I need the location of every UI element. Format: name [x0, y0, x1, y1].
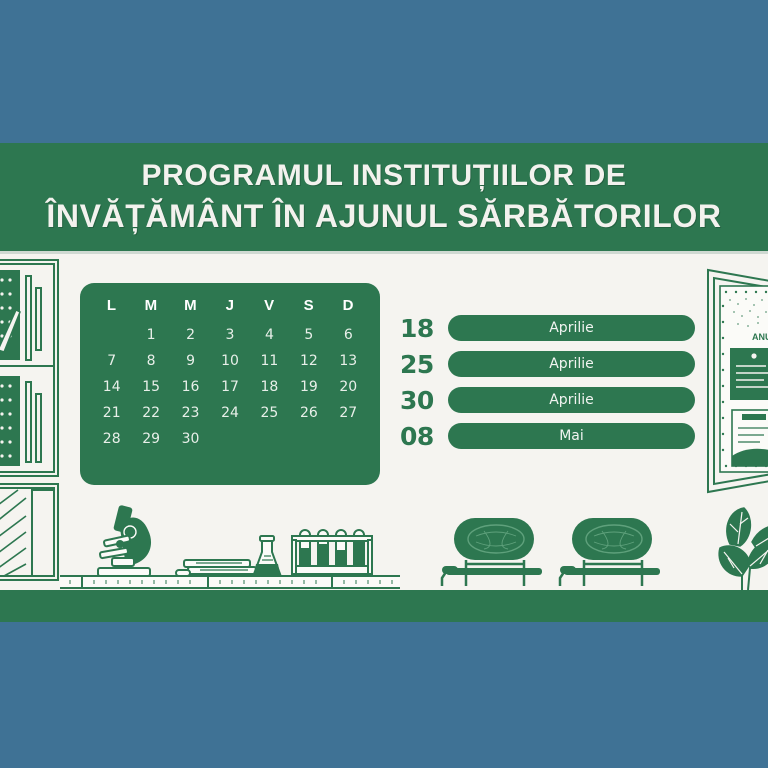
- date-month-pill: Mai: [448, 423, 695, 449]
- calendar-day-cell[interactable]: 3: [210, 324, 249, 346]
- books-icon: [176, 560, 256, 576]
- calendar-day-cell[interactable]: 11: [250, 350, 289, 372]
- chairs-illustration: [440, 512, 670, 590]
- calendar-day-cell: [289, 428, 328, 450]
- calendar-day-cell[interactable]: [92, 324, 131, 346]
- calendar-day-cell: [210, 428, 249, 450]
- plant-icon: [712, 484, 768, 590]
- calendar-dow: S: [289, 297, 328, 314]
- date-day-number: 18: [400, 314, 448, 343]
- counter-top: [60, 576, 400, 588]
- calendar-day-cell[interactable]: 15: [131, 376, 170, 398]
- calendar-day-cell[interactable]: 25: [250, 402, 289, 424]
- calendar-day-cell[interactable]: 18: [250, 376, 289, 398]
- poster-canvas: PROGRAMUL INSTITUȚIILOR DE ÎNVĂȚĂMÂNT ÎN…: [0, 0, 768, 768]
- calendar-dow: J: [210, 297, 249, 314]
- calendar-day-cell[interactable]: 2: [171, 324, 210, 346]
- calendar-week-row: 28 29 30: [92, 428, 368, 450]
- page-title-line-1: PROGRAMUL INSTITUȚIILOR DE: [141, 157, 626, 195]
- content-stage: L M M J V S D 1 2 3 4 5 6 7 8 9 10: [0, 254, 768, 590]
- noticeboard-icon: ANUNȚ: [706, 266, 768, 496]
- calendar-day-cell[interactable]: 8: [131, 350, 170, 372]
- calendar-dow: D: [329, 297, 368, 314]
- holiday-dates-list: 18 Aprilie 25 Aprilie 30 Aprilie 08 Mai: [400, 314, 695, 458]
- calendar-day-cell[interactable]: 10: [210, 350, 249, 372]
- date-day-number: 25: [400, 350, 448, 379]
- calendar-day-cell[interactable]: 22: [131, 402, 170, 424]
- noticeboard-label: ANUNȚ: [752, 332, 768, 342]
- calendar-day-cell[interactable]: 1: [131, 324, 170, 346]
- calendar-day-cell[interactable]: 23: [171, 402, 210, 424]
- calendar-day-cell[interactable]: 12: [289, 350, 328, 372]
- calendar-dow: L: [92, 297, 131, 314]
- test-tube-rack-icon: [292, 530, 372, 574]
- lab-counter-illustration: [60, 504, 400, 590]
- date-month-pill: Aprilie: [448, 315, 695, 341]
- calendar-day-cell[interactable]: 17: [210, 376, 249, 398]
- calendar-day-cell[interactable]: 26: [289, 402, 328, 424]
- calendar-day-cell[interactable]: 24: [210, 402, 249, 424]
- calendar-card[interactable]: L M M J V S D 1 2 3 4 5 6 7 8 9 10: [80, 283, 380, 485]
- date-day-number: 30: [400, 386, 448, 415]
- calendar-day-cell[interactable]: 13: [329, 350, 368, 372]
- date-row[interactable]: 08 Mai: [400, 422, 695, 450]
- calendar-day-cell[interactable]: 29: [131, 428, 170, 450]
- calendar-day-cell[interactable]: 9: [171, 350, 210, 372]
- calendar-dow: M: [171, 297, 210, 314]
- calendar-day-cell[interactable]: 7: [92, 350, 131, 372]
- calendar-dow: V: [250, 297, 289, 314]
- page-title-line-2: ÎNVĂȚĂMÂNT ÎN AJUNUL SĂRBĂTORILOR: [46, 195, 721, 237]
- calendar-day-cell[interactable]: 30: [171, 428, 210, 450]
- calendar-day-headers: L M M J V S D: [92, 297, 368, 314]
- chair-icon: [560, 518, 660, 586]
- calendar-week-row: 1 2 3 4 5 6: [92, 324, 368, 346]
- date-row[interactable]: 25 Aprilie: [400, 350, 695, 378]
- calendar-day-cell: [250, 428, 289, 450]
- calendar-week-row: 7 8 9 10 11 12 13: [92, 350, 368, 372]
- calendar-dow: M: [131, 297, 170, 314]
- calendar-week-row: 14 15 16 17 18 19 20: [92, 376, 368, 398]
- date-row[interactable]: 30 Aprilie: [400, 386, 695, 414]
- date-month-pill: Aprilie: [448, 351, 695, 377]
- calendar-day-cell[interactable]: 16: [171, 376, 210, 398]
- calendar-day-cell[interactable]: 4: [250, 324, 289, 346]
- flask-icon: [254, 536, 280, 574]
- calendar-day-cell[interactable]: 20: [329, 376, 368, 398]
- title-band: PROGRAMUL INSTITUȚIILOR DE ÎNVĂȚĂMÂNT ÎN…: [0, 143, 768, 251]
- calendar-day-cell[interactable]: 28: [92, 428, 131, 450]
- calendar-day-cell: [329, 428, 368, 450]
- calendar-week-row: 21 22 23 24 25 26 27: [92, 402, 368, 424]
- chair-icon: [442, 518, 542, 586]
- floor-band: [0, 590, 768, 622]
- date-month-pill: Aprilie: [448, 387, 695, 413]
- calendar-day-cell[interactable]: 14: [92, 376, 131, 398]
- date-row[interactable]: 18 Aprilie: [400, 314, 695, 342]
- calendar-day-cell[interactable]: 21: [92, 402, 131, 424]
- calendar-day-cell[interactable]: 5: [289, 324, 328, 346]
- date-day-number: 08: [400, 422, 448, 451]
- calendar-day-cell[interactable]: 19: [289, 376, 328, 398]
- calendar-day-cell[interactable]: 6: [329, 324, 368, 346]
- calendar-day-cell[interactable]: 27: [329, 402, 368, 424]
- microscope-icon: [98, 505, 151, 576]
